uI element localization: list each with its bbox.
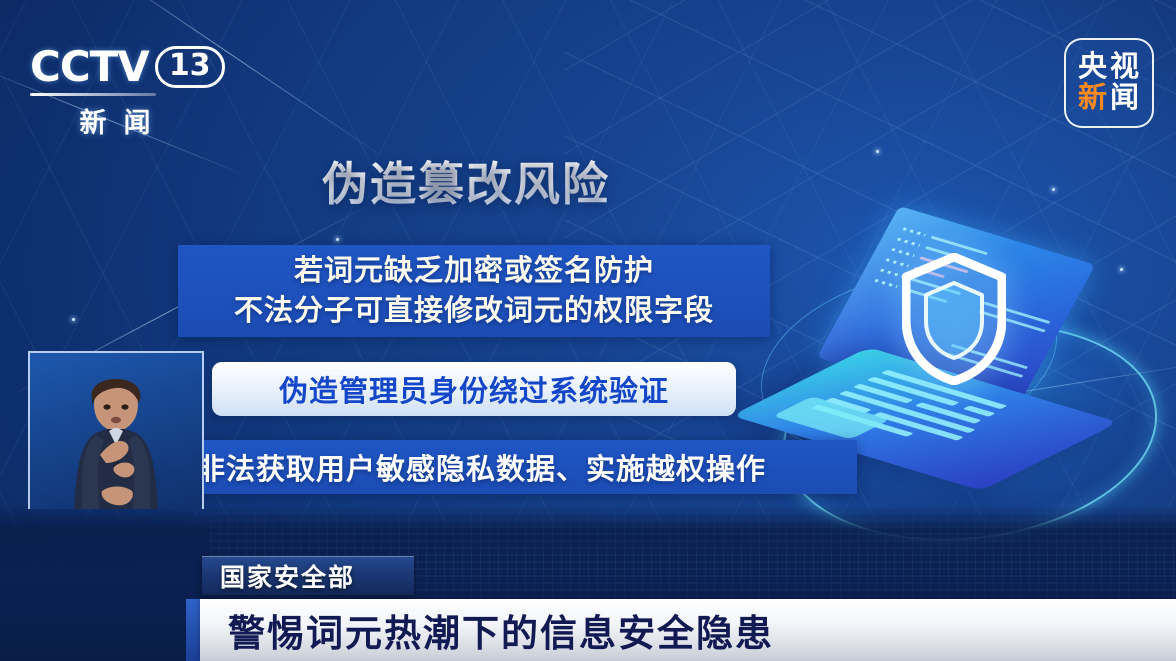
laptop-shield-icon [770, 205, 1170, 545]
watermark-line-2: 新 闻 [1078, 84, 1140, 114]
info-box-3: 非法获取用户敏感隐私数据、实施越权操作 [105, 440, 857, 494]
screen-dash-line [874, 279, 897, 288]
graphic-title: 伪造篡改风险 [322, 148, 610, 214]
info-box-1-line-1: 若词元缺乏加密或签名防护 [294, 251, 654, 291]
headline-text: 警惕词元热潮下的信息安全隐患 [228, 603, 774, 657]
watermark-char-xin: 新 [1078, 84, 1108, 114]
info-box-2: 伪造管理员身份绕过系统验证 [212, 362, 736, 416]
screen-dash-line [880, 269, 903, 278]
channel-subtitle: 新闻 [30, 101, 200, 140]
source-tag: 国家安全部 [202, 556, 414, 595]
sign-language-interpreter [56, 371, 176, 509]
info-box-1-line-2: 不法分子可直接修改词元的权限字段 [234, 291, 714, 331]
watermark-line-1: 央 视 [1078, 53, 1140, 83]
channel-logo: CCTV 13 新闻 [30, 44, 200, 140]
info-box-3-line-1: 非法获取用户敏感隐私数据、实施越权操作 [196, 446, 766, 488]
sign-language-inset [28, 351, 204, 509]
watermark-char-shi: 视 [1110, 53, 1140, 83]
screen-dash-line [903, 227, 926, 236]
channel-number: 13 [155, 46, 225, 87]
source-tag-label: 国家安全部 [220, 558, 355, 594]
channel-logo-underline [30, 93, 156, 96]
info-box-1: 若词元缺乏加密或签名防护 不法分子可直接修改词元的权限字段 [178, 245, 770, 337]
screen-dash-line [897, 238, 920, 247]
channel-logo-row: CCTV 13 [30, 44, 200, 90]
headline-accent-bar [186, 599, 200, 661]
network-watermark: 央 视 新 闻 [1064, 38, 1154, 128]
lower-third: 国家安全部 警惕词元热潮下的信息安全隐患 [0, 505, 1176, 661]
channel-name: CCTV [30, 46, 149, 88]
info-box-2-line-1: 伪造管理员身份绕过系统验证 [279, 368, 669, 410]
shield-icon [902, 253, 1006, 385]
headline-bar: 警惕词元热潮下的信息安全隐患 [200, 599, 1176, 661]
watermark-char-yang: 央 [1078, 53, 1108, 83]
broadcast-screen: CCTV 13 新闻 央 视 新 闻 [0, 0, 1176, 661]
watermark-char-wen: 闻 [1110, 84, 1140, 114]
